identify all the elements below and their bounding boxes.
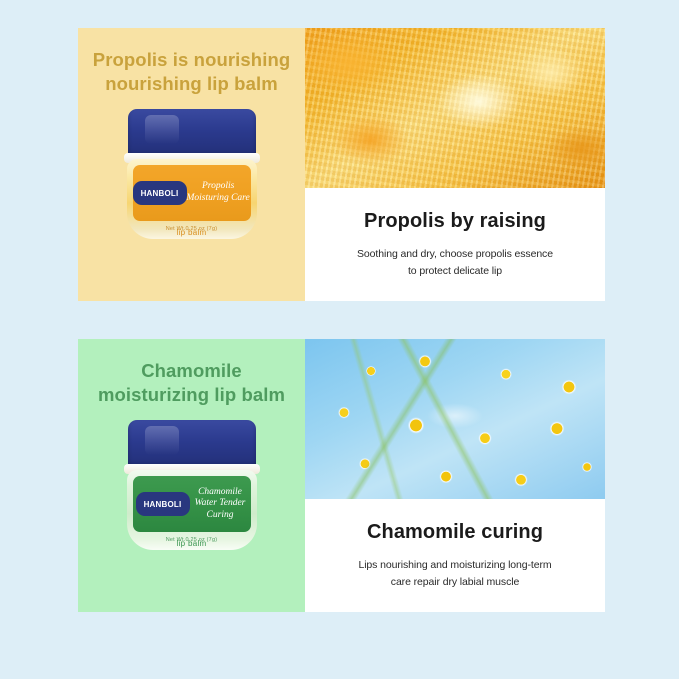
chamomile-caption-line1: Lips nourishing and moisturizing long-te… — [358, 559, 551, 571]
propolis-lip-balm-jar: HANBOLI Propolis Moisturing Care lip bal… — [120, 109, 264, 241]
flower-stems-overlay — [305, 339, 605, 499]
panel-chamomile-heading-line1: Chamomile — [141, 360, 242, 381]
product-feature-board: Propolis is nourishing nourishing lip ba… — [0, 0, 679, 679]
jar-net-weight: Net Wt.0.25 oz (7g) — [127, 226, 257, 232]
propolis-caption-body: Soothing and dry, choose propolis essenc… — [330, 246, 580, 281]
brand-name: HANBOLI — [144, 500, 182, 509]
panel-chamomile-heading: Chamomile moisturizing lip balm — [84, 359, 300, 406]
panel-chamomile-right-column: Chamomile curing Lips nourishing and moi… — [305, 339, 605, 612]
panel-propolis-right-column: Propolis by raising Soothing and dry, ch… — [305, 28, 605, 301]
panel-propolis-left-column: Propolis is nourishing nourishing lip ba… — [78, 28, 305, 301]
jar-lid — [128, 420, 256, 468]
jar-script-text: Chamomile Water Tender Curing — [193, 476, 251, 532]
panel-propolis-heading: Propolis is nourishing nourishing lip ba… — [84, 48, 300, 95]
jar-script-line-2: Moisturing Care — [187, 193, 250, 205]
jar-net-weight: Net Wt.0.25 oz (7g) — [127, 537, 257, 543]
chamomile-flowers-photo — [305, 339, 605, 499]
brand-name: HANBOLI — [141, 189, 179, 198]
chamomile-caption-line2: care repair dry labial muscle — [391, 576, 519, 588]
jar-body: HANBOLI Chamomile Water Tender Curing li… — [127, 470, 257, 550]
chamomile-caption-body: Lips nourishing and moisturizing long-te… — [330, 557, 580, 592]
jar-script-text: Propolis Moisturing Care — [187, 165, 253, 221]
chamomile-caption-block: Chamomile curing Lips nourishing and moi… — [305, 499, 605, 612]
jar-script-line-1: Chamomile — [193, 487, 248, 499]
brand-shield-shape: HANBOLI — [133, 181, 187, 205]
jar-script-line-1: Propolis — [187, 181, 250, 193]
jar-label-band: HANBOLI Propolis Moisturing Care — [133, 165, 251, 221]
jar-lid — [128, 109, 256, 157]
jar-script-line-3: Curing — [193, 510, 248, 522]
propolis-caption-line1: Soothing and dry, choose propolis essenc… — [357, 248, 553, 260]
panel-chamomile-heading-line2: moisturizing lip balm — [98, 384, 285, 405]
chamomile-caption-title: Chamomile curing — [367, 521, 543, 544]
product-panel-propolis: Propolis is nourishing nourishing lip ba… — [78, 28, 605, 301]
jar-body: HANBOLI Propolis Moisturing Care lip bal… — [127, 159, 257, 239]
jar-label-band: HANBOLI Chamomile Water Tender Curing — [133, 476, 251, 532]
brand-badge: HANBOLI — [133, 165, 187, 221]
chamomile-lip-balm-jar: HANBOLI Chamomile Water Tender Curing li… — [120, 420, 264, 552]
propolis-caption-title: Propolis by raising — [364, 210, 546, 233]
honeycomb-photo — [305, 28, 605, 188]
brand-badge: HANBOLI — [133, 476, 193, 532]
propolis-caption-line2: to protect delicate lip — [408, 265, 502, 277]
product-panel-chamomile: Chamomile moisturizing lip balm HANBOLI — [78, 339, 605, 612]
panel-propolis-heading-line2: nourishing lip balm — [105, 73, 278, 94]
panel-propolis-heading-line1: Propolis is nourishing — [93, 49, 291, 70]
panel-chamomile-left-column: Chamomile moisturizing lip balm HANBOLI — [78, 339, 305, 612]
jar-script-line-2: Water Tender — [193, 498, 248, 510]
propolis-caption-block: Propolis by raising Soothing and dry, ch… — [305, 188, 605, 301]
brand-shield-shape: HANBOLI — [136, 492, 190, 516]
